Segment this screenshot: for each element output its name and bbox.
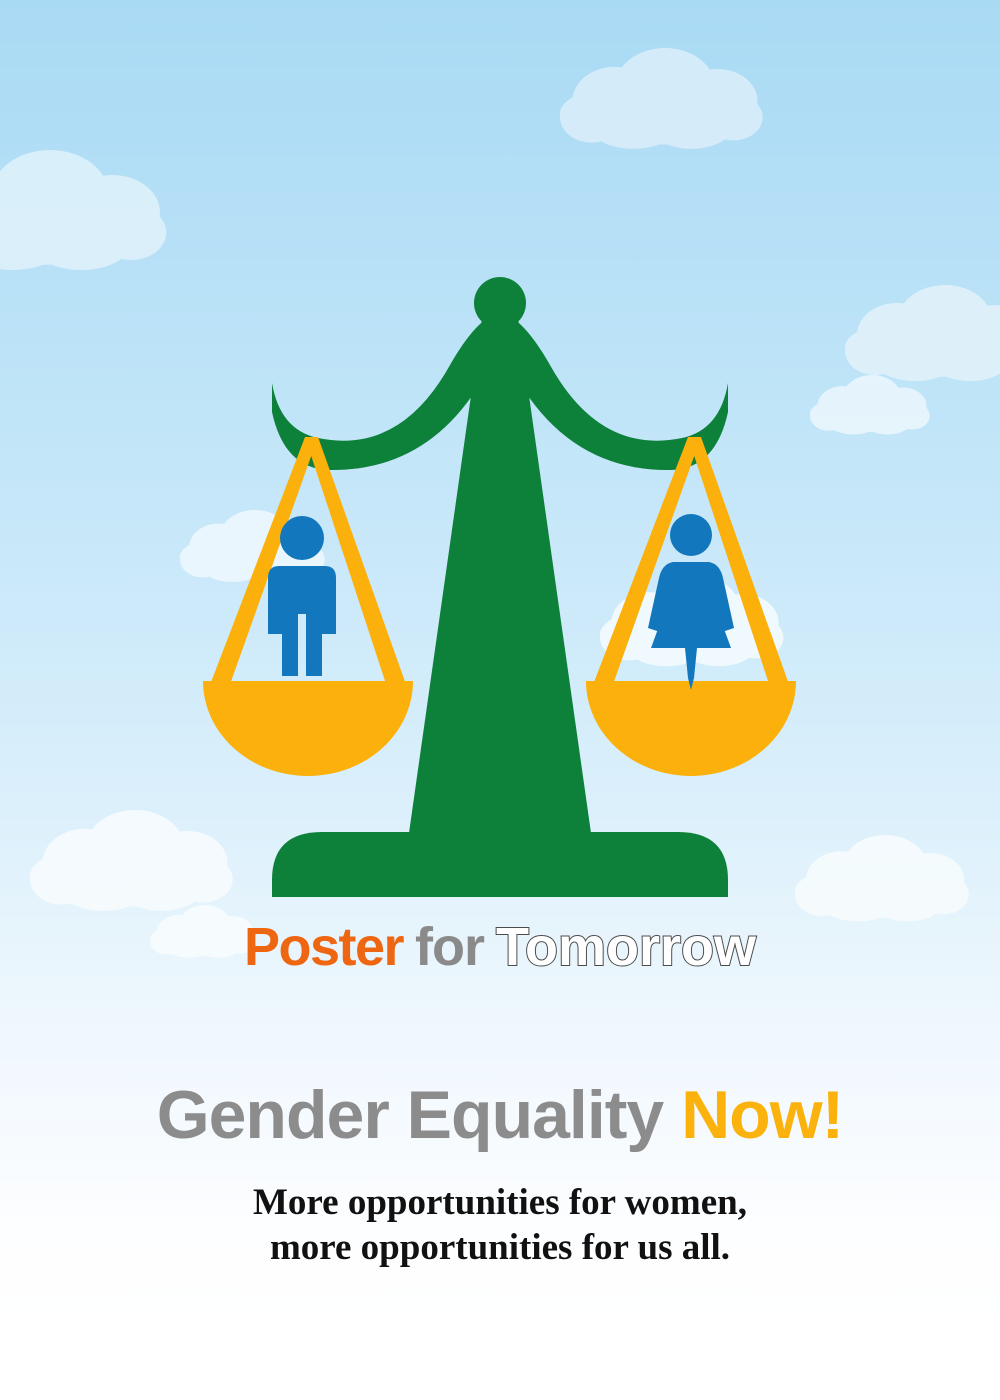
subtitle-line-1: More opportunities for women, bbox=[0, 1180, 1000, 1225]
logo-word-tomorrow: Tomorrow bbox=[496, 912, 756, 982]
scale-pivot-knob bbox=[474, 277, 526, 329]
headline-part-now: Now! bbox=[681, 1077, 843, 1153]
left-pan-strings-2 bbox=[208, 437, 318, 690]
scale-base bbox=[272, 832, 728, 897]
male-head bbox=[280, 516, 324, 560]
left-pan-bowl bbox=[203, 681, 413, 776]
female-body bbox=[648, 562, 734, 648]
male-body bbox=[268, 566, 336, 676]
page-title: Gender Equality Now! bbox=[0, 1073, 1000, 1157]
headline-part-gender-equality: Gender Equality bbox=[157, 1077, 681, 1153]
poster-canvas: PosterforTomorrow Gender Equality Now! M… bbox=[0, 0, 1000, 1400]
poster-for-tomorrow-logo: PosterforTomorrow bbox=[0, 912, 1000, 982]
right-pan-group bbox=[586, 437, 796, 776]
subtitle-line-2: more opportunities for us all. bbox=[0, 1225, 1000, 1270]
logo-word-poster: Poster bbox=[244, 912, 403, 982]
left-pan-group bbox=[203, 437, 413, 776]
female-head bbox=[670, 514, 712, 556]
subtitle: More opportunities for women, more oppor… bbox=[0, 1180, 1000, 1270]
right-pan-bowl bbox=[586, 681, 796, 776]
logo-word-for: for bbox=[415, 912, 484, 982]
